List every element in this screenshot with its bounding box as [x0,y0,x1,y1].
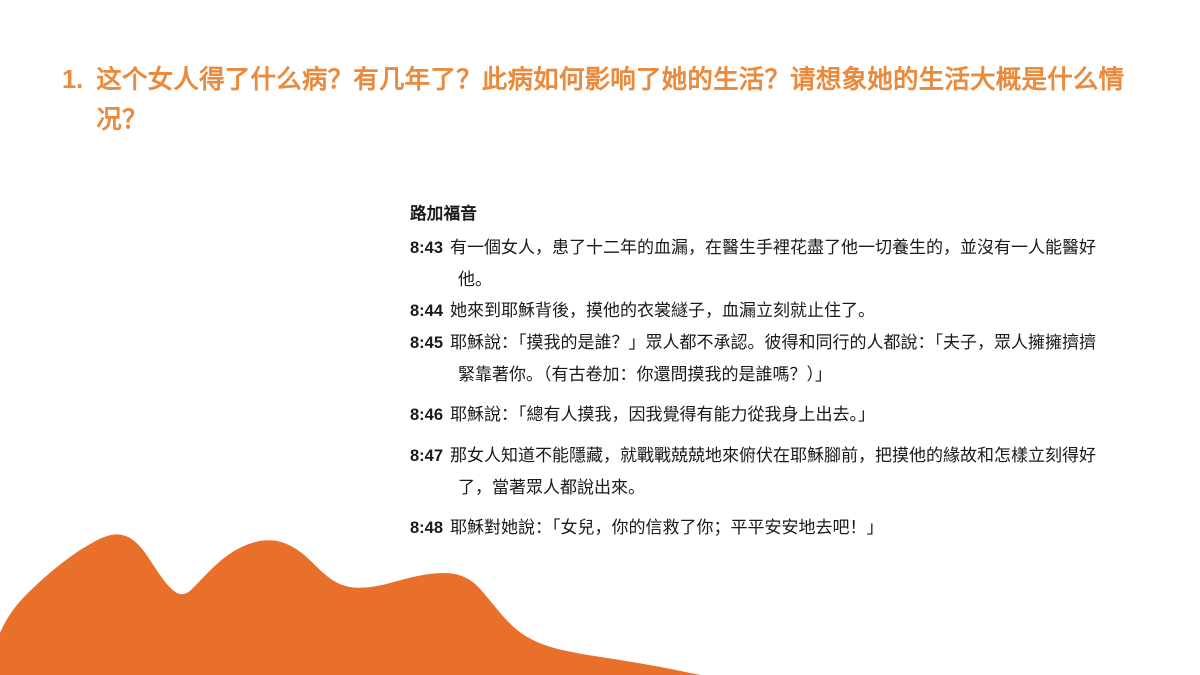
verse-text: 耶穌說：「總有人摸我，因我覺得有能力從我身上出去。」 [450,405,875,424]
verse-text: 有一個女人，患了十二年的血漏，在醫生手裡花盡了他一切養生的，並沒有一人能醫好他。 [450,238,1096,289]
verse-number: 8:43 [410,239,443,257]
verse-8-44: 8:44她來到耶穌背後，摸他的衣裳繸子，血漏立刻就止住了。 [410,295,1110,327]
verse-number: 8:44 [410,302,443,320]
page-title: 1. 这个女人得了什么病？有几年了？此病如何影响了她的生活？请想象她的生活大概是… [62,60,1134,140]
verse-number: 8:45 [410,334,443,352]
verse-8-47: 8:47那女人知道不能隱藏，就戰戰兢兢地來俯伏在耶穌腳前，把摸他的緣故和怎樣立刻… [410,440,1110,503]
verse-text: 耶穌對她說：「女兒，你的信救了你；平平安安地去吧！」 [450,518,884,537]
scripture-block: 路加福音 8:43有一個女人，患了十二年的血漏，在醫生手裡花盡了他一切養生的，並… [410,203,1110,544]
verse-number: 8:48 [410,519,443,537]
slide-canvas: 1. 这个女人得了什么病？有几年了？此病如何影响了她的生活？请想象她的生活大概是… [0,0,1200,675]
verse-8-45: 8:45耶穌說：「摸我的是誰？」眾人都不承認。彼得和同行的人都說：「夫子，眾人擁… [410,327,1110,390]
verse-text: 那女人知道不能隱藏，就戰戰兢兢地來俯伏在耶穌腳前，把摸他的緣故和怎樣立刻得好了，… [450,446,1096,497]
verse-text: 耶穌說：「摸我的是誰？」眾人都不承認。彼得和同行的人都說：「夫子，眾人擁擁擠擠緊… [450,333,1096,384]
scripture-heading: 路加福音 [410,203,1110,225]
verse-number: 8:47 [410,447,443,465]
verse-number: 8:46 [410,406,443,424]
verse-8-43: 8:43有一個女人，患了十二年的血漏，在醫生手裡花盡了他一切養生的，並沒有一人能… [410,232,1110,295]
title-number: 1. [62,60,83,100]
verse-text: 她來到耶穌背後，摸他的衣裳繸子，血漏立刻就止住了。 [450,301,875,320]
title-text: 这个女人得了什么病？有几年了？此病如何影响了她的生活？请想象她的生活大概是什么情… [96,60,1134,140]
verse-8-48: 8:48耶穌對她說：「女兒，你的信救了你；平平安安地去吧！」 [410,512,1110,544]
verse-8-46: 8:46耶穌說：「總有人摸我，因我覺得有能力從我身上出去。」 [410,399,1110,431]
